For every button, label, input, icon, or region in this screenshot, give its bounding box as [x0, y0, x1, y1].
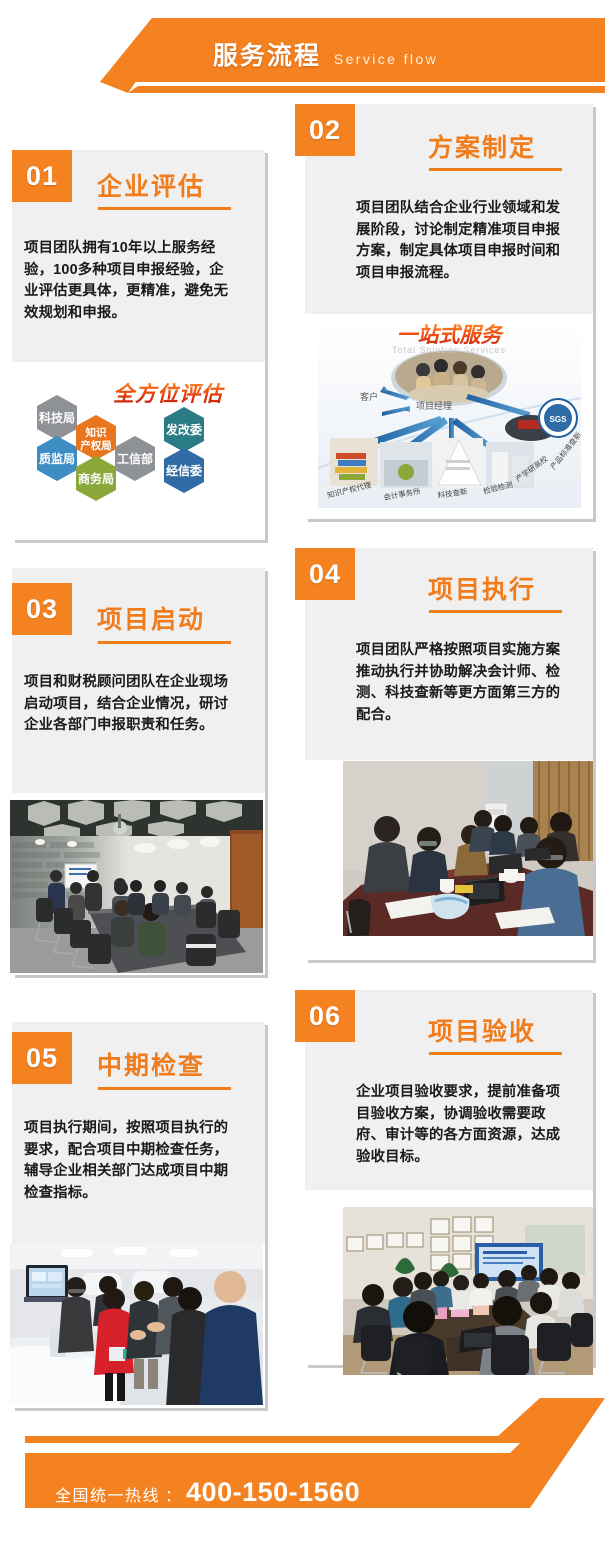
- card-01-number-badge: 01: [12, 150, 72, 202]
- card-06-number: 06: [309, 1001, 341, 1032]
- card-05-media: [10, 1243, 263, 1405]
- svg-text:发改委: 发改委: [165, 422, 203, 437]
- card-04-body: 项目团队严格按照项目实施方案推动执行并协助解决会计师、检测、科技查新等更方面第三…: [356, 640, 571, 726]
- header-banner-shape: [0, 0, 605, 108]
- card-03-body: 项目和财税顾问团队在企业现场启动项目，结合企业情况，研讨企业各部门申报职责和任务…: [24, 672, 238, 737]
- card-06-number-badge: 06: [295, 990, 355, 1042]
- card-05-number: 05: [26, 1043, 58, 1074]
- conference-room-kickoff-photo-svg: [10, 800, 263, 973]
- card-04-title: 项目执行: [428, 570, 536, 606]
- footer-hotline-group: 全国统一热线 ： 400-150-1560: [55, 1477, 360, 1508]
- card-06-media: [343, 1207, 593, 1375]
- card-04-media: [343, 761, 593, 936]
- card-02-title-rule: [429, 168, 562, 171]
- card-03-title-rule: [98, 641, 231, 644]
- svg-text:Total Solution Services: Total Solution Services: [392, 345, 506, 355]
- card-02-number-badge: 02: [295, 104, 355, 156]
- card-01-hexagon-diagram: .hxt{fill:#fff;font-family:"Liberation S…: [16, 366, 261, 536]
- footer-phone-number: 400-150-1560: [186, 1477, 360, 1508]
- svg-text:全方位评估: 全方位评估: [113, 382, 225, 406]
- footer-banner-shape: [0, 1398, 605, 1538]
- card-03-media: [10, 800, 263, 973]
- header-banner: 服务流程 Service flow: [0, 0, 605, 105]
- card-06-title-rule: [429, 1052, 562, 1055]
- svg-text:质监局: 质监局: [39, 451, 75, 466]
- card-06-body: 企业项目验收要求，提前准备项目验收方案，协调验收需要政府、审计等的各方面资源，达…: [356, 1082, 571, 1168]
- svg-text:工信部: 工信部: [117, 451, 153, 466]
- footer-banner: [0, 1398, 605, 1538]
- acceptance-meeting-photo-svg: [343, 1207, 593, 1375]
- card-01-title-rule: [98, 207, 231, 210]
- card-04-number-badge: 04: [295, 548, 355, 600]
- card-01-title: 企业评估: [97, 167, 205, 203]
- card-02-media: 客户 项目经理: [318, 320, 581, 508]
- card-06-title: 项目验收: [428, 1012, 536, 1048]
- card-05-number-badge: 05: [12, 1032, 72, 1084]
- footer-hotline-label: 全国统一热线: [55, 1482, 160, 1506]
- svg-text:科技局: 科技局: [39, 410, 75, 425]
- team-working-meeting-photo-svg: [343, 761, 593, 936]
- service-flow-poster: 服务流程 Service flow 01 企业评估 项目团队拥有10年以上服务经…: [0, 0, 605, 1538]
- card-05-title: 中期检查: [97, 1046, 205, 1082]
- svg-text:经信委: 经信委: [166, 463, 203, 478]
- card-01-number: 01: [26, 161, 58, 192]
- one-stop-service-svg: 客户 项目经理: [318, 320, 581, 508]
- svg-text:SGS: SGS: [550, 415, 568, 424]
- card-01-body: 项目团队拥有10年以上服务经验，100多种项目申报经验，企业评估更具体，更精准，…: [24, 238, 238, 324]
- svg-text:产权局: 产权局: [80, 439, 112, 452]
- footer-colon: ：: [165, 1482, 181, 1506]
- card-02-body: 项目团队结合企业行业领域和发展阶段，讨论制定精准项目申报方案，制定具体项目申报时…: [356, 198, 571, 284]
- card-03-number: 03: [26, 594, 58, 625]
- svg-text:商务局: 商务局: [78, 471, 114, 486]
- hexagon-diagram-svg: .hxt{fill:#fff;font-family:"Liberation S…: [16, 366, 261, 536]
- svg-text:知识: 知识: [86, 426, 107, 439]
- card-03-title: 项目启动: [97, 600, 205, 636]
- card-03-number-badge: 03: [12, 583, 72, 635]
- showroom-visit-photo-svg: [10, 1243, 263, 1405]
- svg-text:一站式服务: 一站式服务: [397, 323, 505, 347]
- card-04-number: 04: [309, 559, 341, 590]
- svg-text:客户: 客户: [360, 391, 378, 402]
- card-04-title-rule: [429, 610, 562, 613]
- card-05-title-rule: [98, 1087, 231, 1090]
- card-02-title: 方案制定: [428, 128, 536, 164]
- svg-text:项目经理: 项目经理: [416, 400, 452, 411]
- card-02-number: 02: [309, 115, 341, 146]
- card-05-body: 项目执行期间，按照项目执行的要求，配合项目中期检查任务，辅导企业相关部门达成项目…: [24, 1118, 238, 1204]
